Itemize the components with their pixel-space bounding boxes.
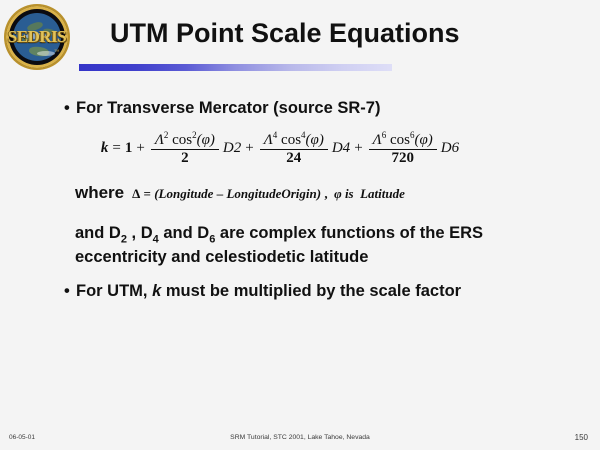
where-is: is <box>345 186 354 201</box>
paragraph-d-functions: and D2 , D4 and D6 are complex functions… <box>0 223 545 267</box>
equation-lhs: k <box>101 140 109 157</box>
slide-body: • For Transverse Mercator (source SR-7) … <box>0 92 600 302</box>
bullet-marker: • <box>64 281 70 302</box>
equation-fraction-3: Λ6 cos6(φ) 720 <box>369 131 437 168</box>
term2-factor: D4 <box>332 140 350 157</box>
page-title: UTM Point Scale Equations <box>110 18 580 49</box>
where-label: where <box>75 183 124 203</box>
where-equals: = <box>144 186 151 201</box>
term1-arg: (φ) <box>197 132 215 148</box>
footer-event-info: SRM Tutorial, STC 2001, Lake Tahoe, Neva… <box>0 434 600 441</box>
where-delta: Δ <box>132 186 140 201</box>
where-comma: , <box>324 186 327 201</box>
title-divider <box>79 64 392 71</box>
globe-cloud <box>37 51 55 56</box>
bullet-item-transverse-mercator: • For Transverse Mercator (source SR-7) <box>0 98 600 119</box>
equation-equals: = <box>110 140 122 157</box>
term1-factor: D2 <box>223 140 241 157</box>
term2-cos: cos <box>281 132 301 148</box>
equation-fraction-2: Λ4 cos4(φ) 24 <box>260 131 328 168</box>
equation-op-3: + <box>352 140 364 157</box>
where-phi: φ <box>334 186 342 201</box>
bullet-text-after: must be multiplied by the scale factor <box>161 282 461 300</box>
bullet-text-before: For UTM, <box>76 282 152 300</box>
where-latitude: Latitude <box>360 186 405 201</box>
para-mid-1: , D <box>127 224 153 242</box>
term2-lambda-exp: 4 <box>273 130 278 140</box>
para-mid-2: and D <box>159 224 209 242</box>
term3-arg: (φ) <box>414 132 432 148</box>
bullet-marker: • <box>64 98 70 119</box>
term3-lambda: Λ <box>373 132 382 148</box>
where-definition: (Longitude – LongitudeOrigin) <box>154 186 321 201</box>
bullet-item-utm-scale-factor: • For UTM, k must be multiplied by the s… <box>0 281 600 302</box>
term1-denominator: 2 <box>181 150 189 167</box>
slide: SEDRIS ™ UTM Point Scale Equations • For… <box>0 0 600 450</box>
term1-lambda: Λ <box>155 132 164 148</box>
term2-arg: (φ) <box>306 132 324 148</box>
scale-factor-equation: k = 1 + Λ2 cos2(φ) 2 D2 + Λ4 cos4(φ) <box>0 131 600 168</box>
equation-constant: 1 <box>125 140 133 157</box>
sedris-logo: SEDRIS ™ <box>6 6 68 68</box>
term2-lambda: Λ <box>264 132 273 148</box>
logo-wordmark: SEDRIS <box>6 28 68 45</box>
bullet-italic-k: k <box>152 282 161 300</box>
equation-op-2: + <box>243 140 255 157</box>
term3-denominator: 720 <box>391 150 414 167</box>
where-definition-line: where Δ = (Longitude – LongitudeOrigin) … <box>0 183 600 203</box>
logo-trademark: ™ <box>54 50 59 55</box>
equation-fraction-1: Λ2 cos2(φ) 2 <box>151 131 219 168</box>
footer-page-number: 150 <box>575 433 588 442</box>
para-prefix: and D <box>75 224 121 242</box>
term3-lambda-exp: 6 <box>382 130 387 140</box>
term2-denominator: 24 <box>286 150 301 167</box>
term3-factor: D6 <box>441 140 459 157</box>
term3-cos: cos <box>390 132 410 148</box>
bullet-text: For Transverse Mercator (source SR-7) <box>76 99 380 117</box>
term1-cos: cos <box>172 132 192 148</box>
equation-op-1: + <box>134 140 146 157</box>
term1-lambda-exp: 2 <box>164 130 169 140</box>
